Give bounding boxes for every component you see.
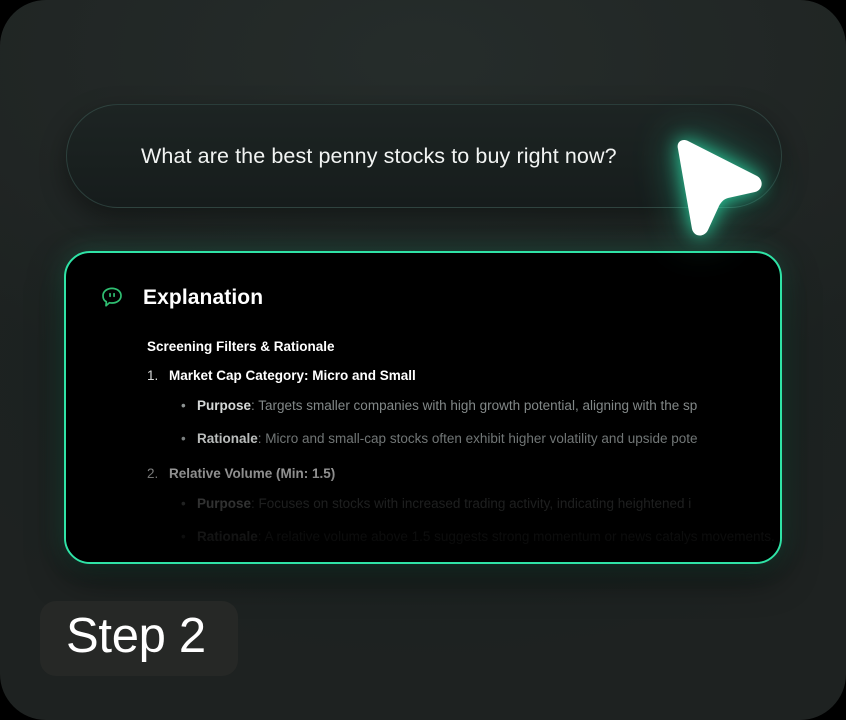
- explanation-card-title: Explanation: [143, 286, 263, 310]
- filter-row: 2. Relative Volume (Min: 1.5): [147, 466, 782, 481]
- prompt-text: What are the best penny stocks to buy ri…: [141, 144, 617, 169]
- app-stage: What are the best penny stocks to buy ri…: [0, 0, 846, 720]
- explanation-card: Explanation Screening Filters & Rational…: [64, 251, 782, 564]
- explanation-card-body: Screening Filters & Rationale 1. Market …: [66, 311, 782, 546]
- chat-bubble-icon: [99, 285, 125, 311]
- filter-row: 1. Market Cap Category: Micro and Small: [147, 368, 782, 383]
- subpoint-label: Purpose: [197, 398, 251, 413]
- bullet-icon: •: [181, 429, 197, 449]
- subpoint-text: Purpose: Targets smaller companies with …: [197, 396, 697, 416]
- subpoint-body: Micro and small-cap stocks often exhibit…: [265, 431, 697, 446]
- filter-subpoints: • Purpose: Targets smaller companies wit…: [99, 396, 782, 448]
- subpoint-body: Targets smaller companies with high grow…: [258, 398, 697, 413]
- step-badge: Step 2: [40, 601, 238, 676]
- list-item: • Rationale: A relative volume above 1.5…: [181, 527, 782, 547]
- subpoint-separator: :: [258, 529, 265, 544]
- subpoint-label: Purpose: [197, 496, 251, 511]
- subpoint-text: Rationale: Micro and small-cap stocks of…: [197, 429, 698, 449]
- filter-label: Market Cap Category: Micro and Small: [169, 368, 416, 383]
- filter-number: 2.: [147, 466, 169, 481]
- subpoint-body: A relative volume above 1.5 suggests str…: [265, 529, 775, 544]
- bullet-icon: •: [181, 494, 197, 514]
- filter-label: Relative Volume (Min: 1.5): [169, 466, 335, 481]
- subpoint-label: Rationale: [197, 431, 258, 446]
- subpoint-separator: :: [251, 496, 259, 511]
- list-item: • Purpose: Targets smaller companies wit…: [181, 396, 782, 416]
- step-badge-label: Step 2: [66, 609, 206, 663]
- prompt-input-bar[interactable]: What are the best penny stocks to buy ri…: [66, 104, 782, 208]
- list-item: • Purpose: Focuses on stocks with increa…: [181, 494, 782, 514]
- bullet-icon: •: [181, 396, 197, 416]
- section-heading: Screening Filters & Rationale: [147, 339, 782, 354]
- subpoint-text: Purpose: Focuses on stocks with increase…: [197, 494, 691, 514]
- explanation-card-header: Explanation: [66, 253, 780, 311]
- filter-subpoints: • Purpose: Focuses on stocks with increa…: [99, 494, 782, 546]
- list-item: 1. Market Cap Category: Micro and Small …: [99, 368, 782, 448]
- list-item: • Rationale: Micro and small-cap stocks …: [181, 429, 782, 449]
- subpoint-body: Focuses on stocks with increased trading…: [259, 496, 692, 511]
- list-item: 2. Relative Volume (Min: 1.5) • Purpose:…: [99, 466, 782, 546]
- bullet-icon: •: [181, 527, 197, 547]
- subpoint-text: Rationale: A relative volume above 1.5 s…: [197, 527, 775, 547]
- subpoint-label: Rationale: [197, 529, 258, 544]
- filter-number: 1.: [147, 368, 169, 383]
- filters-list: 1. Market Cap Category: Micro and Small …: [99, 368, 782, 546]
